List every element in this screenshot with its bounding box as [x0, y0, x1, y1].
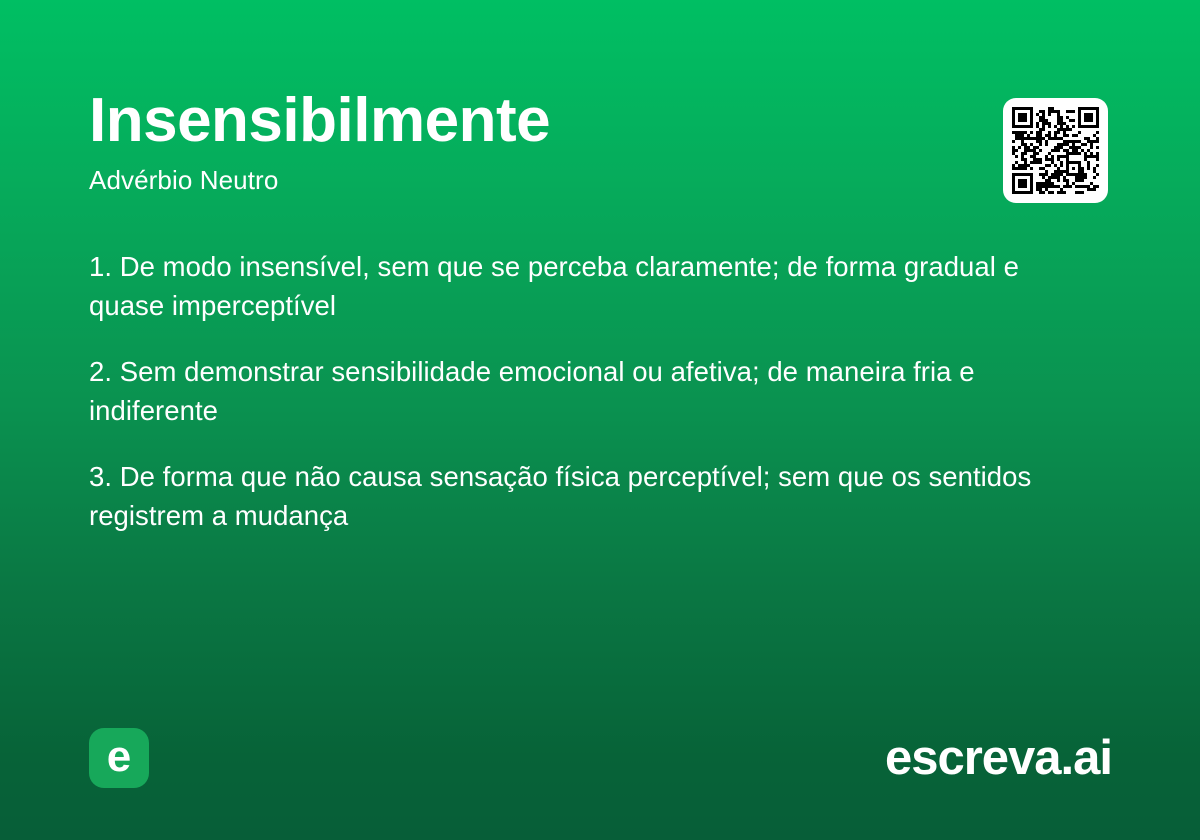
card-footer: e escreva.ai [89, 728, 1112, 788]
definition-list: 1. De modo insensível, sem que se perceb… [89, 248, 1099, 535]
definition-item: 3. De forma que não causa sensação físic… [89, 458, 1099, 535]
qr-code-panel[interactable] [1003, 98, 1108, 203]
card-header: Insensibilmente Advérbio Neutro [89, 88, 969, 196]
page-title: Insensibilmente [89, 88, 969, 154]
word-class-label: Advérbio Neutro [89, 165, 969, 196]
definition-item: 2. Sem demonstrar sensibilidade emociona… [89, 353, 1099, 430]
brand-wordmark: escreva.ai [885, 734, 1112, 783]
escreva-logo-icon: e [89, 728, 149, 788]
word-definition-card: Insensibilmente Advérbio Neutro 1. De mo… [0, 0, 1200, 840]
definition-item: 1. De modo insensível, sem que se perceb… [89, 248, 1099, 325]
brand-logo-letter: e [107, 735, 131, 779]
qr-code-icon[interactable] [1012, 107, 1099, 194]
